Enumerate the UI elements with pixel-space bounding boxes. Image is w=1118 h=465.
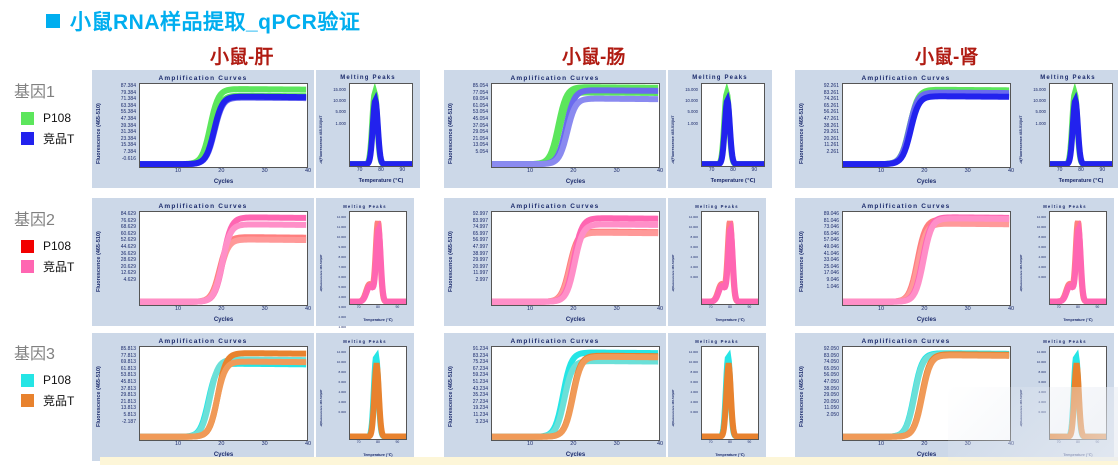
y-axis-ticks: 12.00010.0008.0006.0004.0002.0000.000 xyxy=(676,351,698,421)
y-tick-label: 6.000 xyxy=(676,381,698,384)
x-tick-label: 30 xyxy=(965,168,971,174)
y-tick-label: 73.046 xyxy=(807,225,839,230)
y-tick-label: 65.050 xyxy=(807,367,839,372)
melting-peaks-panel-r2c1-melt[interactable]: Melting Peaks-d(Fluorescence 465-510)/dT… xyxy=(668,198,766,326)
y-tick-label: 37.813 xyxy=(104,387,136,392)
x-tick-label: 70 xyxy=(357,440,361,444)
y-tick-label: 79.384 xyxy=(104,91,136,96)
x-axis-ticks: 10203040 xyxy=(491,441,660,449)
y-tick-label: 59.234 xyxy=(456,373,488,378)
x-tick-label: 20 xyxy=(570,306,576,312)
x-tick-label: 20 xyxy=(570,441,576,447)
y-tick-label: 47.050 xyxy=(807,380,839,385)
y-axis-ticks: 15.00010.0005.0001.000 xyxy=(676,88,698,133)
y-tick-label: 85.813 xyxy=(104,347,136,352)
y-tick-label: 38.261 xyxy=(807,124,839,129)
y-tick-label: 56.997 xyxy=(456,238,488,243)
chart-title: Melting Peaks xyxy=(668,204,766,209)
y-tick-label: 28.629 xyxy=(104,258,136,263)
x-axis-label: Cycles xyxy=(491,317,660,323)
y-tick-label: 63.384 xyxy=(104,104,136,109)
y-tick-label: 20.261 xyxy=(807,137,839,142)
y-tick-label: 53.054 xyxy=(456,110,488,115)
y-axis-ticks: 92.05083.05074.05065.05056.05047.05038.0… xyxy=(807,347,839,420)
y-tick-label: 21.813 xyxy=(104,400,136,405)
corner-decoration xyxy=(948,387,1118,461)
y-tick-label: 38.050 xyxy=(807,387,839,392)
y-axis-ticks: 12.00010.0008.0006.0004.0002.0000.000 xyxy=(1024,216,1046,286)
y-tick-label: -0.616 xyxy=(104,157,136,162)
x-tick-label: 40 xyxy=(1008,306,1014,312)
x-tick-label: 40 xyxy=(305,306,311,312)
y-tick-label: 2.050 xyxy=(807,413,839,418)
melting-peaks-panel-r3c1-melt[interactable]: Melting Peaks-d(Fluorescence 465-510)/dT… xyxy=(668,333,766,461)
y-tick-label: 2.997 xyxy=(456,278,488,283)
x-tick-label: 40 xyxy=(305,168,311,174)
legend-item: P108 xyxy=(21,239,92,253)
y-tick-label: 12.000 xyxy=(676,351,698,354)
amplification-panel-r1c0-amp[interactable]: Amplification CurvesFluorescence (465-51… xyxy=(92,70,314,188)
y-tick-label: 53.813 xyxy=(104,373,136,378)
x-tick-label: 90 xyxy=(1100,167,1106,173)
x-tick-label: 10 xyxy=(175,306,181,312)
gene-label: 基因3 xyxy=(14,340,92,364)
y-tick-label: 55.384 xyxy=(104,110,136,115)
y-tick-label: 29.261 xyxy=(807,130,839,135)
y-tick-label: 0.000 xyxy=(676,276,698,279)
y-tick-label: 11.261 xyxy=(807,143,839,148)
y-tick-label: 1.000 xyxy=(1024,122,1046,126)
y-tick-label: 47.997 xyxy=(456,245,488,250)
y-tick-label: 23.384 xyxy=(104,137,136,142)
y-axis-ticks: 87.38479.38471.38463.38455.38447.38439.3… xyxy=(104,84,136,163)
y-tick-label: 92.050 xyxy=(807,347,839,352)
legend-label: P108 xyxy=(43,239,71,253)
melting-peaks-panel-r2c0-melt[interactable]: Melting Peaks-d(Fluorescence 465-510)/dT… xyxy=(316,198,414,326)
plot-area[interactable] xyxy=(491,211,660,306)
y-axis-ticks: 92.26183.26174.26165.26156.26147.26138.2… xyxy=(807,84,839,157)
x-tick-label: 80 xyxy=(376,305,380,309)
y-tick-label: 3.234 xyxy=(456,420,488,425)
x-tick-label: 90 xyxy=(752,167,758,173)
y-axis-label: -d(Fluorescence 465-510)/dT xyxy=(671,218,675,292)
y-tick-label: 45.054 xyxy=(456,117,488,122)
y-tick-label: 1.000 xyxy=(324,326,346,329)
y-tick-label: 19.234 xyxy=(456,406,488,411)
y-tick-label: 57.046 xyxy=(807,238,839,243)
y-axis-label: -d(Fluorescence 465-510)/dT xyxy=(319,353,323,427)
y-tick-label: 7.384 xyxy=(104,150,136,155)
amplification-panel-r2c0-amp[interactable]: Amplification CurvesFluorescence (465-51… xyxy=(92,198,314,326)
legend-item: P108 xyxy=(21,373,92,387)
x-axis-label: Temperature (℃) xyxy=(701,318,759,322)
y-axis-label: -d(Fluorescence 465-510)/dT xyxy=(319,218,323,292)
y-tick-label: 4.000 xyxy=(676,391,698,394)
amplification-panel-r1c1-amp[interactable]: Amplification CurvesFluorescence (465-51… xyxy=(444,70,666,188)
y-tick-label: 67.234 xyxy=(456,367,488,372)
y-tick-label: 10.000 xyxy=(1024,226,1046,229)
chart-title: Melting Peaks xyxy=(668,75,772,81)
y-tick-label: 1.000 xyxy=(676,122,698,126)
y-tick-label: 12.000 xyxy=(676,216,698,219)
x-axis-label: Cycles xyxy=(139,317,308,323)
y-tick-label: 4.629 xyxy=(104,278,136,283)
y-tick-label: 7.000 xyxy=(324,266,346,269)
y-tick-label: 10.000 xyxy=(324,236,346,239)
chart-title: Amplification Curves xyxy=(444,338,666,345)
legend-item: 竞品T xyxy=(21,130,92,147)
y-tick-label: 31.384 xyxy=(104,130,136,135)
x-tick-label: 30 xyxy=(614,441,620,447)
y-tick-label: 9.046 xyxy=(807,278,839,283)
x-tick-label: 10 xyxy=(527,168,533,174)
y-tick-label: 20.629 xyxy=(104,265,136,270)
y-tick-label: 81.046 xyxy=(807,219,839,224)
x-tick-label: 70 xyxy=(709,440,713,444)
chart-title: Melting Peaks xyxy=(1016,75,1118,81)
y-axis-ticks: 15.00010.0005.0001.000 xyxy=(324,88,346,133)
y-tick-label: 17.046 xyxy=(807,271,839,276)
column-header-intestine: 小鼠-肠 xyxy=(562,42,625,69)
y-axis-label: Fluorescence (465-510) xyxy=(799,357,805,427)
y-tick-label: 4.000 xyxy=(324,296,346,299)
x-tick-label: 10 xyxy=(175,168,181,174)
x-tick-label: 10 xyxy=(527,441,533,447)
x-axis-label: Cycles xyxy=(139,179,308,185)
legend-item: 竞品T xyxy=(21,258,92,275)
y-tick-label: 8.000 xyxy=(676,371,698,374)
y-tick-label: 85.054 xyxy=(456,84,488,89)
y-tick-label: 47.384 xyxy=(104,117,136,122)
amplification-panel-r2c1-amp[interactable]: Amplification CurvesFluorescence (465-51… xyxy=(444,198,666,326)
x-tick-label: 20 xyxy=(218,306,224,312)
plot-area[interactable] xyxy=(349,346,407,440)
y-tick-label: 6.000 xyxy=(324,381,346,384)
y-tick-label: 36.629 xyxy=(104,252,136,257)
legend-item: 竞品T xyxy=(21,392,92,409)
y-tick-label: 5.000 xyxy=(676,110,698,114)
plot-area[interactable] xyxy=(139,83,308,168)
melting-peaks-panel-r1c0-melt[interactable]: Melting Peaks-d(Fluorescence 465-510)/dT… xyxy=(316,70,420,188)
gene-label: 基因1 xyxy=(14,78,92,102)
x-tick-label: 20 xyxy=(570,168,576,174)
legend-item: P108 xyxy=(21,111,92,125)
y-tick-label: 51.234 xyxy=(456,380,488,385)
x-axis-ticks: 10203040 xyxy=(842,168,1011,176)
melting-peaks-panel-r2c2-melt[interactable]: Melting Peaks-d(Fluorescence 465-510)/dT… xyxy=(1016,198,1114,326)
plot-area[interactable] xyxy=(139,211,308,306)
x-axis-ticks: 10203040 xyxy=(139,306,308,314)
y-tick-label: 0.000 xyxy=(1024,276,1046,279)
x-axis-ticks: 708090 xyxy=(701,440,759,448)
y-tick-label: 69.813 xyxy=(104,360,136,365)
chart-title: Amplification Curves xyxy=(795,75,1017,82)
y-axis-label: -d(Fluorescence 465-510)/dT xyxy=(1019,90,1023,164)
y-axis-ticks: 12.00010.0008.0006.0004.0002.0000.000 xyxy=(324,351,346,421)
y-axis-ticks: 84.62976.62968.62960.62952.62944.62936.6… xyxy=(104,212,136,285)
chart-title: Amplification Curves xyxy=(92,338,314,345)
y-tick-label: 10.000 xyxy=(676,226,698,229)
y-tick-label: 6.000 xyxy=(1024,381,1046,384)
x-tick-label: 80 xyxy=(376,440,380,444)
legend-swatch-icon xyxy=(21,132,34,145)
x-tick-label: 40 xyxy=(1008,168,1014,174)
chart-title: Amplification Curves xyxy=(444,203,666,210)
y-tick-label: 60.629 xyxy=(104,232,136,237)
plot-area[interactable] xyxy=(349,83,413,167)
y-axis-label: Fluorescence (465-510) xyxy=(799,222,805,292)
y-tick-label: 4.000 xyxy=(1024,256,1046,259)
row-legend-1: 基因1P108竞品T xyxy=(14,78,92,152)
legend-swatch-icon xyxy=(21,374,34,387)
x-tick-label: 40 xyxy=(657,306,663,312)
x-tick-label: 10 xyxy=(878,441,884,447)
x-tick-label: 20 xyxy=(218,168,224,174)
chart-title: Melting Peaks xyxy=(316,339,414,344)
y-tick-label: 43.234 xyxy=(456,387,488,392)
chart-title: Amplification Curves xyxy=(444,75,666,82)
y-tick-label: 77.813 xyxy=(104,354,136,359)
y-tick-label: 29.050 xyxy=(807,393,839,398)
y-axis-ticks: 89.04681.04673.04665.04657.04649.04641.0… xyxy=(807,212,839,291)
x-tick-label: 90 xyxy=(400,167,406,173)
y-tick-label: 12.000 xyxy=(324,351,346,354)
y-tick-label: 38.997 xyxy=(456,252,488,257)
x-axis-label: Cycles xyxy=(842,317,1011,323)
melting-peaks-panel-r1c1-melt[interactable]: Melting Peaks-d(Fluorescence 465-510)/dT… xyxy=(668,70,772,188)
y-tick-label: 13.813 xyxy=(104,406,136,411)
y-tick-label: 2.000 xyxy=(676,401,698,404)
legend-swatch-icon xyxy=(21,394,34,407)
x-tick-label: 70 xyxy=(709,305,713,309)
y-tick-label: 8.000 xyxy=(1024,371,1046,374)
legend-label: 竞品T xyxy=(43,258,74,275)
y-axis-ticks: 91.23483.23475.23467.23459.23451.23443.2… xyxy=(456,347,488,426)
x-tick-label: 20 xyxy=(218,441,224,447)
y-axis-ticks: 12.00010.0008.0006.0004.0002.0000.000 xyxy=(676,216,698,286)
y-tick-label: 92.997 xyxy=(456,212,488,217)
plot-area[interactable] xyxy=(139,346,308,441)
x-tick-label: 90 xyxy=(747,305,751,309)
y-tick-label: 12.000 xyxy=(1024,351,1046,354)
chart-title: Melting Peaks xyxy=(668,339,766,344)
x-tick-label: 80 xyxy=(1078,167,1084,173)
x-axis-ticks: 10203040 xyxy=(139,441,308,449)
y-tick-label: 65.261 xyxy=(807,104,839,109)
y-axis-ticks: 85.81377.81369.81361.81353.81345.81337.8… xyxy=(104,347,136,426)
y-tick-label: 35.234 xyxy=(456,393,488,398)
y-tick-label: 6.000 xyxy=(676,246,698,249)
y-tick-label: 15.384 xyxy=(104,143,136,148)
page-title-text: 小鼠RNA样品提取_qPCR验证 xyxy=(70,6,360,36)
amplification-panel-r2c2-amp[interactable]: Amplification CurvesFluorescence (465-51… xyxy=(795,198,1017,326)
x-tick-label: 30 xyxy=(262,168,268,174)
y-tick-label: 10.000 xyxy=(676,361,698,364)
square-bullet-icon xyxy=(46,14,60,28)
melting-peaks-panel-r3c0-melt[interactable]: Melting Peaks-d(Fluorescence 465-510)/dT… xyxy=(316,333,414,461)
x-tick-label: 30 xyxy=(614,306,620,312)
y-tick-label: 5.054 xyxy=(456,150,488,155)
x-axis-ticks: 708090 xyxy=(349,440,407,448)
chart-title: Melting Peaks xyxy=(1016,204,1114,209)
x-tick-label: 40 xyxy=(657,441,663,447)
x-tick-label: 30 xyxy=(262,441,268,447)
legend-label: P108 xyxy=(43,373,71,387)
y-axis-label: Fluorescence (465-510) xyxy=(799,94,805,164)
y-tick-label: 15.000 xyxy=(324,88,346,92)
gene-label: 基因2 xyxy=(14,206,92,230)
plot-area[interactable] xyxy=(842,211,1011,306)
x-axis-ticks: 10203040 xyxy=(842,306,1011,314)
y-tick-label: 75.234 xyxy=(456,360,488,365)
legend-label: P108 xyxy=(43,111,71,125)
x-axis-label: Temperature (℃) xyxy=(349,318,407,322)
y-tick-label: 10.000 xyxy=(324,99,346,103)
y-tick-label: 47.261 xyxy=(807,117,839,122)
y-axis-ticks: 12.00011.00010.0009.0008.0007.0006.0005.… xyxy=(324,216,346,346)
x-axis-ticks: 708090 xyxy=(701,305,759,313)
y-tick-label: 8.000 xyxy=(324,256,346,259)
y-axis-label: Fluorescence (465-510) xyxy=(448,222,454,292)
y-tick-label: 20.997 xyxy=(456,265,488,270)
y-tick-label: 8.000 xyxy=(324,371,346,374)
x-tick-label: 90 xyxy=(747,440,751,444)
y-tick-label: 61.054 xyxy=(456,104,488,109)
melting-peaks-panel-r1c2-melt[interactable]: Melting Peaks-d(Fluorescence 465-510)/dT… xyxy=(1016,70,1118,188)
y-tick-label: 74.997 xyxy=(456,225,488,230)
x-tick-label: 70 xyxy=(357,305,361,309)
amplification-panel-r1c2-amp[interactable]: Amplification CurvesFluorescence (465-51… xyxy=(795,70,1017,188)
x-tick-label: 20 xyxy=(921,441,927,447)
y-axis-label: -d(Fluorescence 465-510)/dT xyxy=(1019,218,1023,292)
x-tick-label: 40 xyxy=(305,441,311,447)
y-tick-label: 15.000 xyxy=(1024,88,1046,92)
x-axis-ticks: 708090 xyxy=(1049,305,1107,313)
y-tick-label: 29.997 xyxy=(456,258,488,263)
y-tick-label: 49.046 xyxy=(807,245,839,250)
x-axis-label: Temperature (℃) xyxy=(701,178,765,184)
legend-label: 竞品T xyxy=(43,130,74,147)
chart-title: Amplification Curves xyxy=(92,75,314,82)
x-tick-label: 30 xyxy=(262,306,268,312)
row-legend-2: 基因2P108竞品T xyxy=(14,206,92,280)
x-tick-label: 70 xyxy=(1057,167,1063,173)
y-axis-label: -d(Fluorescence 465-510)/dT xyxy=(319,90,323,164)
y-tick-label: 12.000 xyxy=(324,216,346,219)
plot-area[interactable] xyxy=(701,83,765,167)
y-tick-label: 92.261 xyxy=(807,84,839,89)
y-axis-label: Fluorescence (465-510) xyxy=(448,94,454,164)
y-tick-label: 1.000 xyxy=(324,122,346,126)
y-tick-label: 11.234 xyxy=(456,413,488,418)
y-tick-label: 89.046 xyxy=(807,212,839,217)
legend-swatch-icon xyxy=(21,260,34,273)
x-axis-label: Cycles xyxy=(842,179,1011,185)
x-tick-label: 30 xyxy=(965,306,971,312)
x-axis-ticks: 708090 xyxy=(1049,167,1113,175)
y-axis-label: Fluorescence (465-510) xyxy=(448,357,454,427)
x-tick-label: 70 xyxy=(709,167,715,173)
plot-area[interactable] xyxy=(1049,83,1113,167)
x-axis-ticks: 10203040 xyxy=(139,168,308,176)
y-tick-label: 21.054 xyxy=(456,137,488,142)
y-axis-ticks: 85.05477.05469.05461.05453.05445.05437.0… xyxy=(456,84,488,157)
plot-area[interactable] xyxy=(1049,211,1107,305)
page-title: 小鼠RNA样品提取_qPCR验证 xyxy=(46,6,360,36)
y-tick-label: 12.629 xyxy=(104,271,136,276)
y-tick-label: 68.629 xyxy=(104,225,136,230)
x-axis-label: Cycles xyxy=(491,179,660,185)
y-tick-label: 5.000 xyxy=(324,286,346,289)
y-tick-label: 11.000 xyxy=(324,226,346,229)
y-tick-label: 5.000 xyxy=(1024,110,1046,114)
y-tick-label: 74.050 xyxy=(807,360,839,365)
y-tick-label: 39.384 xyxy=(104,124,136,129)
x-tick-label: 80 xyxy=(730,167,736,173)
x-axis-ticks: 708090 xyxy=(701,167,765,175)
y-tick-label: 41.046 xyxy=(807,252,839,257)
y-tick-label: 5.813 xyxy=(104,413,136,418)
x-tick-label: 40 xyxy=(657,168,663,174)
y-tick-label: 11.997 xyxy=(456,271,488,276)
legend-label: 竞品T xyxy=(43,392,74,409)
y-tick-label: 4.000 xyxy=(324,391,346,394)
x-axis-ticks: 10203040 xyxy=(491,306,660,314)
x-tick-label: 80 xyxy=(728,305,732,309)
y-tick-label: 25.046 xyxy=(807,265,839,270)
y-tick-label: 2.000 xyxy=(324,316,346,319)
x-tick-label: 80 xyxy=(1076,305,1080,309)
x-axis-label: Temperature (℃) xyxy=(1049,178,1113,184)
plot-area[interactable] xyxy=(701,346,759,440)
x-tick-label: 10 xyxy=(175,441,181,447)
y-tick-label: 8.000 xyxy=(676,236,698,239)
amplification-panel-r3c0-amp[interactable]: Amplification CurvesFluorescence (465-51… xyxy=(92,333,314,461)
y-tick-label: 56.261 xyxy=(807,110,839,115)
y-tick-label: 10.000 xyxy=(1024,361,1046,364)
y-tick-label: 1.046 xyxy=(807,285,839,290)
y-tick-label: 56.050 xyxy=(807,373,839,378)
plot-area[interactable] xyxy=(491,346,660,441)
y-tick-label: 2.000 xyxy=(1024,266,1046,269)
plot-area[interactable] xyxy=(701,211,759,305)
y-axis-label: Fluorescence (465-510) xyxy=(96,94,102,164)
x-tick-label: 20 xyxy=(921,306,927,312)
y-tick-label: 10.000 xyxy=(324,361,346,364)
x-tick-label: 70 xyxy=(357,167,363,173)
plot-area[interactable] xyxy=(349,211,407,305)
x-axis-ticks: 708090 xyxy=(349,305,407,313)
y-tick-label: 9.000 xyxy=(324,246,346,249)
y-tick-label: 44.629 xyxy=(104,245,136,250)
plot-area[interactable] xyxy=(842,83,1011,168)
y-axis-label: Fluorescence (465-510) xyxy=(96,222,102,292)
y-axis-ticks: 92.99783.99774.99765.99756.99747.99738.9… xyxy=(456,212,488,285)
y-tick-label: 76.629 xyxy=(104,219,136,224)
amplification-panel-r3c1-amp[interactable]: Amplification CurvesFluorescence (465-51… xyxy=(444,333,666,461)
chart-title: Melting Peaks xyxy=(316,75,420,81)
y-tick-label: 77.054 xyxy=(456,91,488,96)
x-tick-label: 80 xyxy=(728,440,732,444)
y-axis-label: -d(Fluorescence 465-510)/dT xyxy=(671,90,675,164)
y-tick-label: 2.000 xyxy=(676,266,698,269)
row-legend-3: 基因3P108竞品T xyxy=(14,340,92,414)
y-tick-label: 83.050 xyxy=(807,354,839,359)
y-tick-label: 83.234 xyxy=(456,354,488,359)
column-header-kidney: 小鼠-肾 xyxy=(915,42,978,69)
y-tick-label: 2.261 xyxy=(807,150,839,155)
plot-area[interactable] xyxy=(491,83,660,168)
